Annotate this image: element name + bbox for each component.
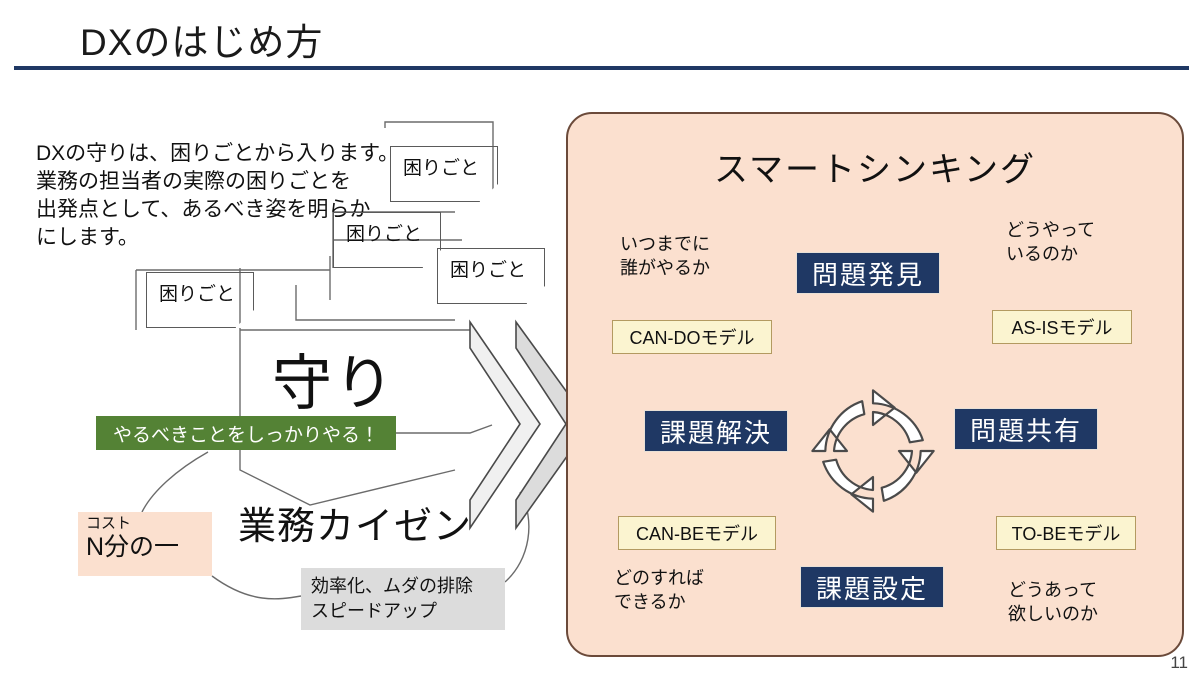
question-line-2: いるのか: [1006, 242, 1095, 266]
page-fold-icon: [235, 310, 254, 328]
question-line-2: 欲しいのか: [1008, 602, 1098, 626]
note-card: 困りごと: [390, 146, 498, 202]
circular-arrows-icon: [808, 386, 938, 516]
page-fold-icon: [526, 286, 545, 304]
note-card-label: 困りごと: [346, 219, 422, 246]
phase-box-problem-sharing[interactable]: 問題共有: [954, 408, 1098, 450]
model-box-to-be[interactable]: TO-BEモデル: [996, 516, 1136, 550]
mamori-label: 守り: [272, 335, 396, 422]
smart-thinking-panel: スマートシンキング いつまでに 誰がやるか どうやって いるのか どのすれば で…: [566, 112, 1184, 657]
page-title: DXのはじめ方: [80, 12, 323, 66]
model-box-can-be[interactable]: CAN-BEモデル: [618, 516, 776, 550]
panel-title: スマートシンキング: [568, 142, 1182, 191]
phase-box-issue-resolution[interactable]: 課題解決: [644, 410, 788, 452]
phase-box-issue-setting[interactable]: 課題設定: [800, 566, 944, 608]
note-card: 困りごと: [437, 248, 545, 304]
note-card: 困りごと: [333, 212, 441, 268]
page-number: 11: [1170, 653, 1188, 673]
cost-value: N分の一: [86, 534, 212, 562]
note-card-label: 困りごと: [403, 153, 479, 180]
lead-line-1: DXの守りは、困りごとから入ります。: [36, 140, 396, 168]
question-bottom-left: どのすれば できるか: [614, 566, 704, 615]
question-line-1: どうやって: [1006, 218, 1095, 242]
question-line-1: いつまでに: [620, 232, 710, 256]
model-box-as-is[interactable]: AS-ISモデル: [992, 310, 1132, 344]
slide-canvas: DXのはじめ方: [0, 0, 1200, 675]
note-card-label: 困りごと: [159, 279, 235, 306]
question-top-right: どうやって いるのか: [1006, 218, 1095, 267]
question-line-1: どうあって: [1008, 578, 1098, 602]
efficiency-line-2: スピードアップ: [311, 599, 505, 624]
kaizen-label: 業務カイゼン: [238, 495, 472, 550]
question-top-left: いつまでに 誰がやるか: [620, 232, 710, 281]
phase-box-problem-discovery[interactable]: 問題発見: [796, 252, 940, 294]
question-line-1: どのすれば: [614, 566, 704, 590]
question-line-2: 誰がやるか: [620, 256, 710, 280]
question-line-2: できるか: [614, 590, 704, 614]
cost-box: コスト N分の一: [78, 512, 212, 576]
question-bottom-right: どうあって 欲しいのか: [1008, 578, 1098, 627]
note-card-label: 困りごと: [450, 255, 526, 282]
lead-line-2: 業務の担当者の実際の困りごとを: [36, 168, 396, 196]
note-card: 困りごと: [146, 272, 254, 328]
cost-caption: コスト: [86, 516, 212, 533]
model-box-can-do[interactable]: CAN-DOモデル: [612, 320, 772, 354]
green-banner: やるべきことをしっかりやる！: [96, 416, 396, 450]
efficiency-box: 効率化、ムダの排除 スピードアップ: [301, 568, 505, 630]
efficiency-line-1: 効率化、ムダの排除: [311, 574, 505, 599]
title-divider: [14, 66, 1189, 70]
page-fold-icon: [479, 184, 498, 202]
